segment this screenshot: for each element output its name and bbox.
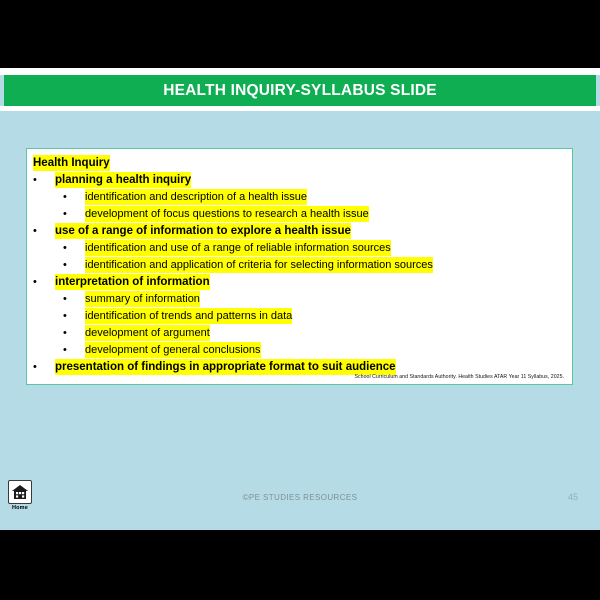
list-item: •presentation of findings in appropriate… [27, 359, 572, 375]
list-item-label: development of argument [85, 325, 210, 341]
list-item: •identification and description of a hea… [27, 189, 572, 205]
list-item: •identification and application of crite… [27, 257, 572, 273]
bullet-marker: • [33, 223, 55, 239]
letterbox-bar-bottom [0, 530, 600, 600]
list-item-label: planning a health inquiry [55, 172, 191, 188]
list-item-label: summary of information [85, 291, 200, 307]
list-item-label: identification and use of a range of rel… [85, 240, 391, 256]
bullet-marker: • [63, 342, 85, 358]
bullet-marker: • [33, 359, 55, 375]
list-item-label: presentation of findings in appropriate … [55, 359, 396, 375]
list-item-label: identification and application of criter… [85, 257, 433, 273]
syllabus-bullet-list: Health Inquiry•planning a health inquiry… [27, 149, 572, 376]
list-item-label: interpretation of information [55, 274, 210, 290]
list-item: •development of focus questions to resea… [27, 206, 572, 222]
bullet-marker: • [33, 274, 55, 290]
list-item: •interpretation of information [27, 274, 572, 290]
list-item-label: use of a range of information to explore… [55, 223, 351, 239]
list-item: •development of general conclusions [27, 342, 572, 358]
bullet-marker: • [63, 291, 85, 307]
list-item-label: development of general conclusions [85, 342, 261, 358]
page-title: HEALTH INQUIRY-SYLLABUS SLIDE [163, 82, 437, 100]
list-item-label: Health Inquiry [33, 155, 110, 171]
slide-viewer: HEALTH INQUIRY-SYLLABUS SLIDE Health Inq… [0, 0, 600, 600]
slide-top-strip [0, 68, 600, 75]
list-item-label: identification of trends and patterns in… [85, 308, 292, 324]
bullet-marker: • [63, 240, 85, 256]
syllabus-content-card: Health Inquiry•planning a health inquiry… [26, 148, 573, 385]
bullet-marker: • [63, 308, 85, 324]
page-number: 45 [568, 492, 578, 502]
copyright-text: ©PE STUDIES RESOURCES [0, 493, 600, 502]
list-item: •identification and use of a range of re… [27, 240, 572, 256]
bullet-marker: • [63, 257, 85, 273]
list-item: •planning a health inquiry [27, 172, 572, 188]
list-item-label: identification and description of a heal… [85, 189, 307, 205]
list-item: •use of a range of information to explor… [27, 223, 572, 239]
slide-header-bar: HEALTH INQUIRY-SYLLABUS SLIDE [4, 75, 596, 106]
bullet-marker: • [33, 172, 55, 188]
list-item-label: development of focus questions to resear… [85, 206, 369, 222]
list-item: •development of argument [27, 325, 572, 341]
bullet-marker: • [63, 325, 85, 341]
source-attribution: School Curriculum and Standards Authorit… [354, 374, 564, 380]
home-button-label: Home [12, 505, 28, 511]
letterbox-bar-top [0, 0, 600, 68]
header-separator [0, 106, 600, 111]
list-item: •identification of trends and patterns i… [27, 308, 572, 324]
bullet-marker: • [63, 189, 85, 205]
list-item: •summary of information [27, 291, 572, 307]
bullet-marker: • [63, 206, 85, 222]
presentation-slide: HEALTH INQUIRY-SYLLABUS SLIDE Health Inq… [0, 68, 600, 530]
list-item: Health Inquiry [27, 155, 572, 171]
